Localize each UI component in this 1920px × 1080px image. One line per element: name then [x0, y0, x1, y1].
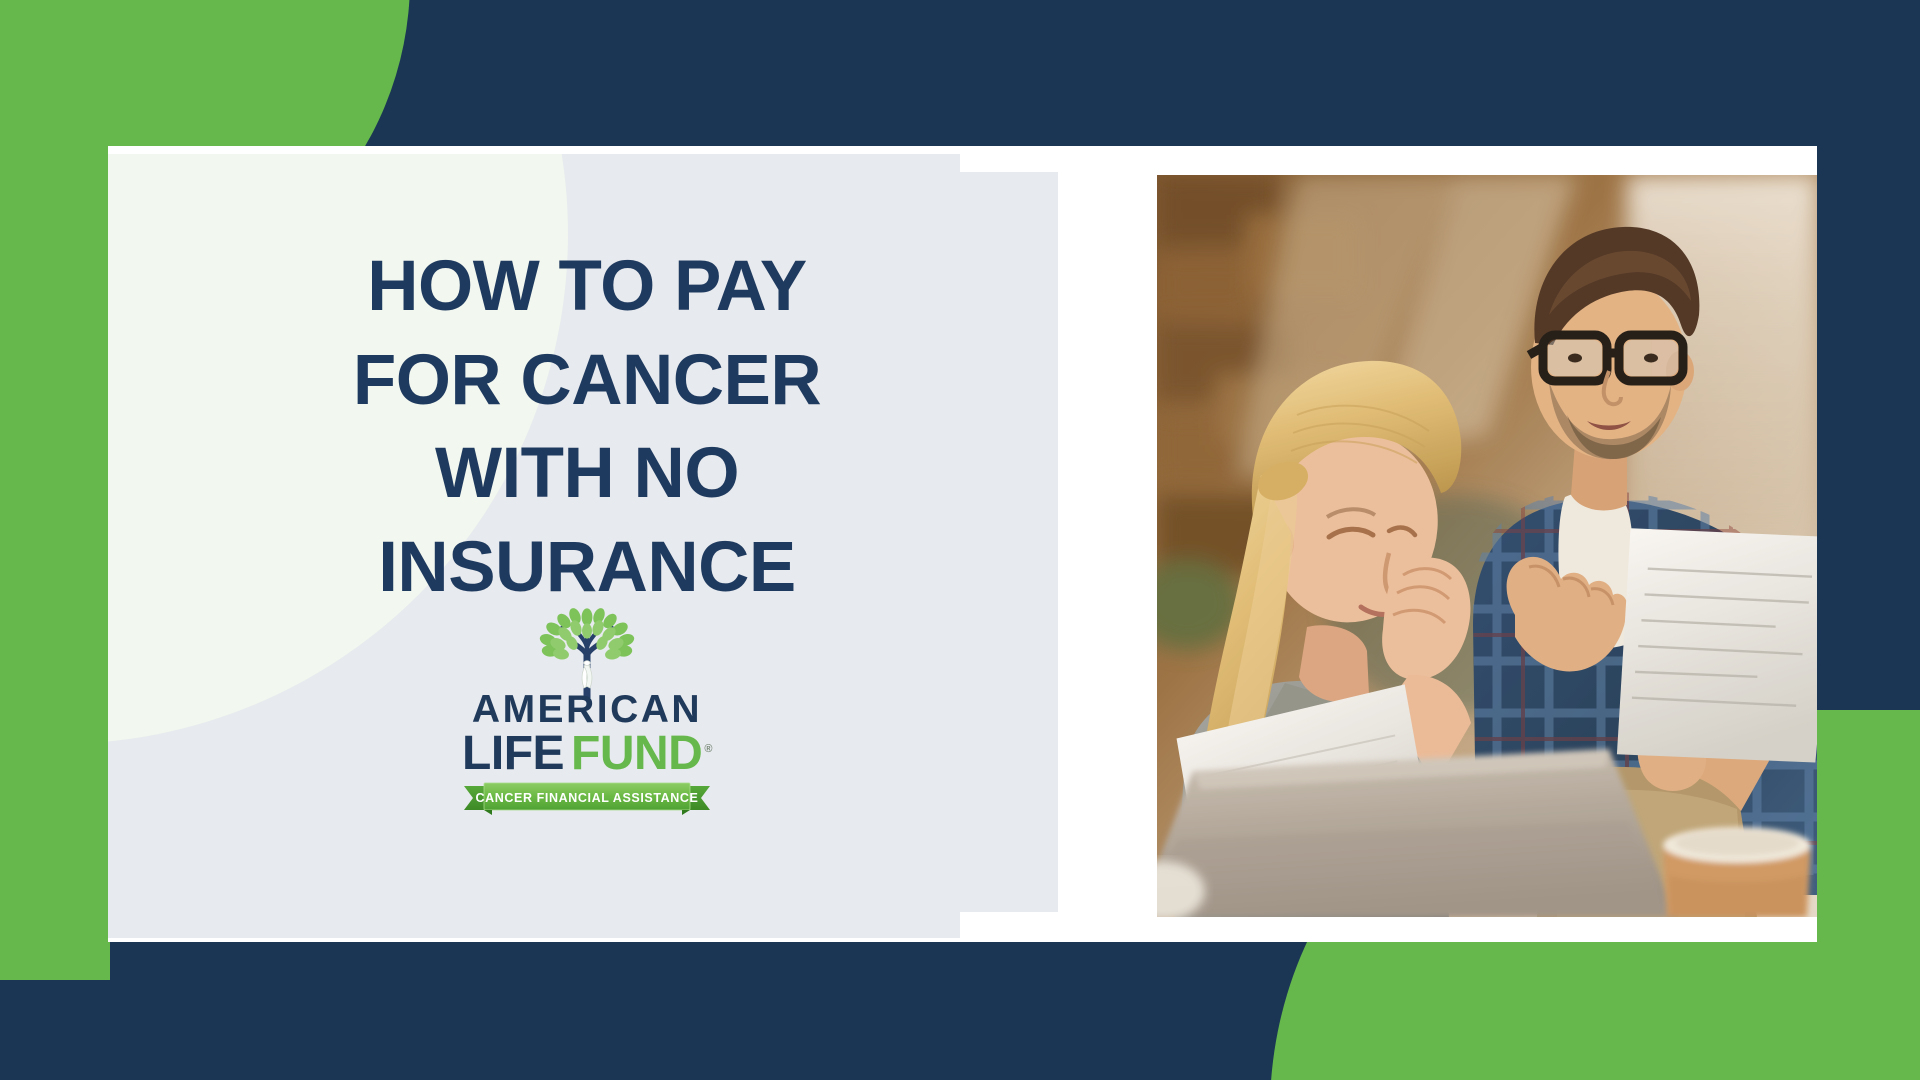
poster-canvas: HOW TO PAY FOR CANCER WITH NO INSURANCE [0, 0, 1920, 1080]
headline-line-4: INSURANCE [108, 521, 1066, 615]
headline-panel: HOW TO PAY FOR CANCER WITH NO INSURANCE [108, 154, 1066, 938]
tree-icon [528, 606, 646, 698]
card-notch-bottom [960, 912, 1078, 938]
headline-line-1: HOW TO PAY [108, 240, 1066, 334]
logo-word-fund: FUND [571, 727, 702, 780]
page-title: HOW TO PAY FOR CANCER WITH NO INSURANCE [108, 240, 1066, 615]
photo-frame [1058, 154, 1817, 938]
logo-word-life: LIFE [462, 727, 564, 780]
logo-wordmark: AMERICAN LIFEFUND® [432, 690, 742, 778]
logo-brand-line-1: AMERICAN [432, 690, 742, 729]
ribbon-banner-icon: CANCER FINANCIAL ASSISTANCE [462, 782, 712, 816]
hero-photo [1157, 175, 1817, 917]
registered-trademark-mark: ® [704, 743, 712, 755]
logo-brand-line-2: LIFEFUND® [432, 730, 742, 778]
headline-line-2: FOR CANCER [108, 334, 1066, 428]
featured-image-card: HOW TO PAY FOR CANCER WITH NO INSURANCE [108, 146, 1817, 942]
american-life-fund-logo: AMERICAN LIFEFUND® [432, 606, 742, 816]
headline-line-3: WITH NO [108, 427, 1066, 521]
card-notch-top [960, 154, 1078, 172]
logo-tagline: CANCER FINANCIAL ASSISTANCE [476, 791, 699, 805]
